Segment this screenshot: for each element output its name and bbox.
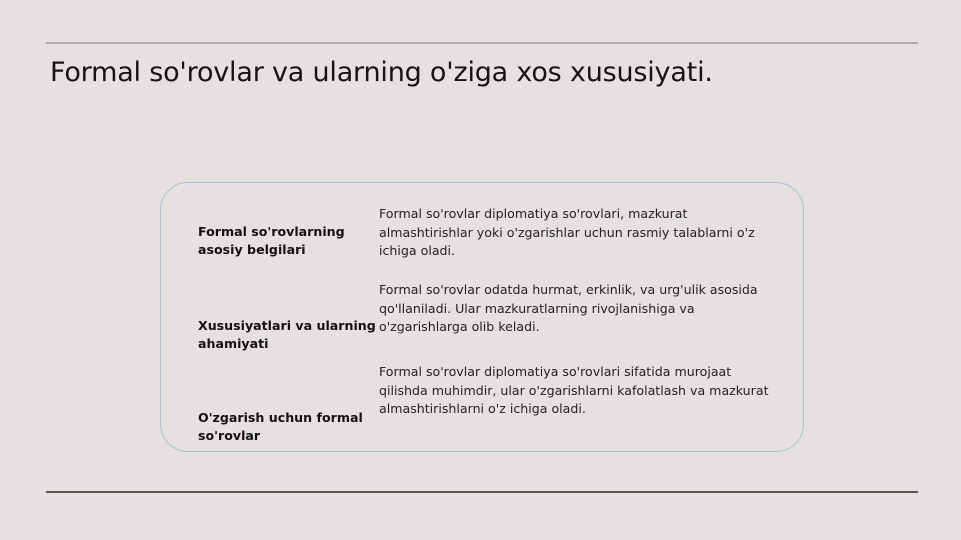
- bottom-divider-rule: [46, 491, 918, 493]
- content-card: Formal so'rovlarning asosiy belgilari Fo…: [160, 182, 804, 452]
- top-divider-rule: [46, 42, 918, 44]
- content-row-body: Formal so'rovlar odatda hurmat, erkinlik…: [379, 281, 779, 337]
- content-row-list: Formal so'rovlarning asosiy belgilari Fo…: [161, 183, 805, 453]
- content-row: Xususiyatlari va ularning ahamiyati Form…: [161, 279, 805, 363]
- slide-canvas: Formal so'rovlar va ularning o'ziga xos …: [0, 0, 961, 540]
- content-row-body: Formal so'rovlar diplomatiya so'rovlari …: [379, 363, 779, 419]
- content-row: O'zgarish uchun formal so'rovlar Formal …: [161, 363, 805, 447]
- content-row-label: O'zgarish uchun formal so'rovlar: [198, 409, 386, 446]
- content-row-label: Formal so'rovlarning asosiy belgilari: [198, 223, 386, 260]
- content-row-label: Xususiyatlari va ularning ahamiyati: [198, 317, 386, 354]
- content-row: Formal so'rovlarning asosiy belgilari Fo…: [161, 199, 805, 277]
- slide-title: Formal so'rovlar va ularning o'ziga xos …: [50, 56, 910, 90]
- content-row-body: Formal so'rovlar diplomatiya so'rovlari,…: [379, 205, 779, 261]
